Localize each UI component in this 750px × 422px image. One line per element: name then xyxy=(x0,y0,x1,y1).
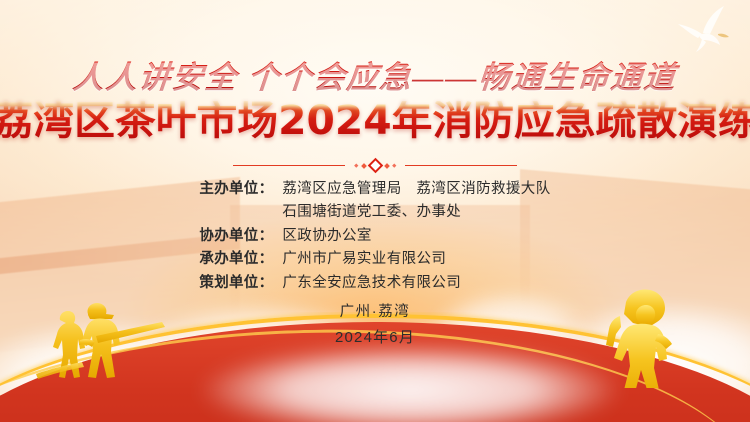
organizer-label: 策划单位： xyxy=(199,272,282,295)
event-place: 广州·荔湾 xyxy=(0,300,750,321)
divider-rule-right xyxy=(405,165,517,166)
organizer-value: 石围塘街道党工委、办事处 xyxy=(282,201,550,224)
organizer-row: 协办单位： 区政协办公室 xyxy=(199,225,550,248)
divider-ornament xyxy=(0,160,750,171)
ornament-diamond-center xyxy=(367,158,383,174)
organizer-row: 主办单位： 荔湾区应急管理局 荔湾区消防救援大队 xyxy=(199,178,550,201)
ornament-diamond-right xyxy=(384,163,390,169)
poster-content: 人人讲安全 个个会应急——畅通生命通道 荔湾区茶叶市场2024年消防应急疏散演练… xyxy=(0,0,750,422)
poster-canvas: 人人讲安全 个个会应急——畅通生命通道 荔湾区茶叶市场2024年消防应急疏散演练… xyxy=(0,0,750,422)
organizer-label: 主办单位： xyxy=(199,178,282,201)
ornament-dot-left xyxy=(354,164,358,168)
organizer-label xyxy=(199,201,282,224)
ornament-diamond-left xyxy=(361,163,367,169)
organizer-table: 主办单位： 荔湾区应急管理局 荔湾区消防救援大队 石围塘街道党工委、办事处 协办… xyxy=(199,178,550,295)
poster-headline: 荔湾区茶叶市场2024年消防应急疏散演练 xyxy=(0,101,750,141)
organizer-label: 承办单位： xyxy=(199,248,282,271)
diamond-ornament-icon xyxy=(355,160,395,171)
divider-rule-left xyxy=(233,165,345,166)
organizer-block: 主办单位： 荔湾区应急管理局 荔湾区消防救援大队 石围塘街道党工委、办事处 协办… xyxy=(0,178,750,295)
organizer-row: 承办单位： 广州市广易实业有限公司 xyxy=(199,248,550,271)
organizer-value: 荔湾区应急管理局 荔湾区消防救援大队 xyxy=(282,178,550,201)
organizer-row: 策划单位： 广东全安应急技术有限公司 xyxy=(199,272,550,295)
poster-meta: 广州·荔湾 2024年6月 xyxy=(0,300,750,347)
organizer-row: 石围塘街道党工委、办事处 xyxy=(199,201,550,224)
organizer-value: 区政协办公室 xyxy=(282,225,550,248)
event-date: 2024年6月 xyxy=(0,326,750,347)
organizer-value: 广东全安应急技术有限公司 xyxy=(282,272,550,295)
organizer-label: 协办单位： xyxy=(199,225,282,248)
poster-slogan: 人人讲安全 个个会应急——畅通生命通道 xyxy=(0,52,750,97)
ornament-dot-right xyxy=(392,164,396,168)
organizer-value: 广州市广易实业有限公司 xyxy=(282,248,550,271)
